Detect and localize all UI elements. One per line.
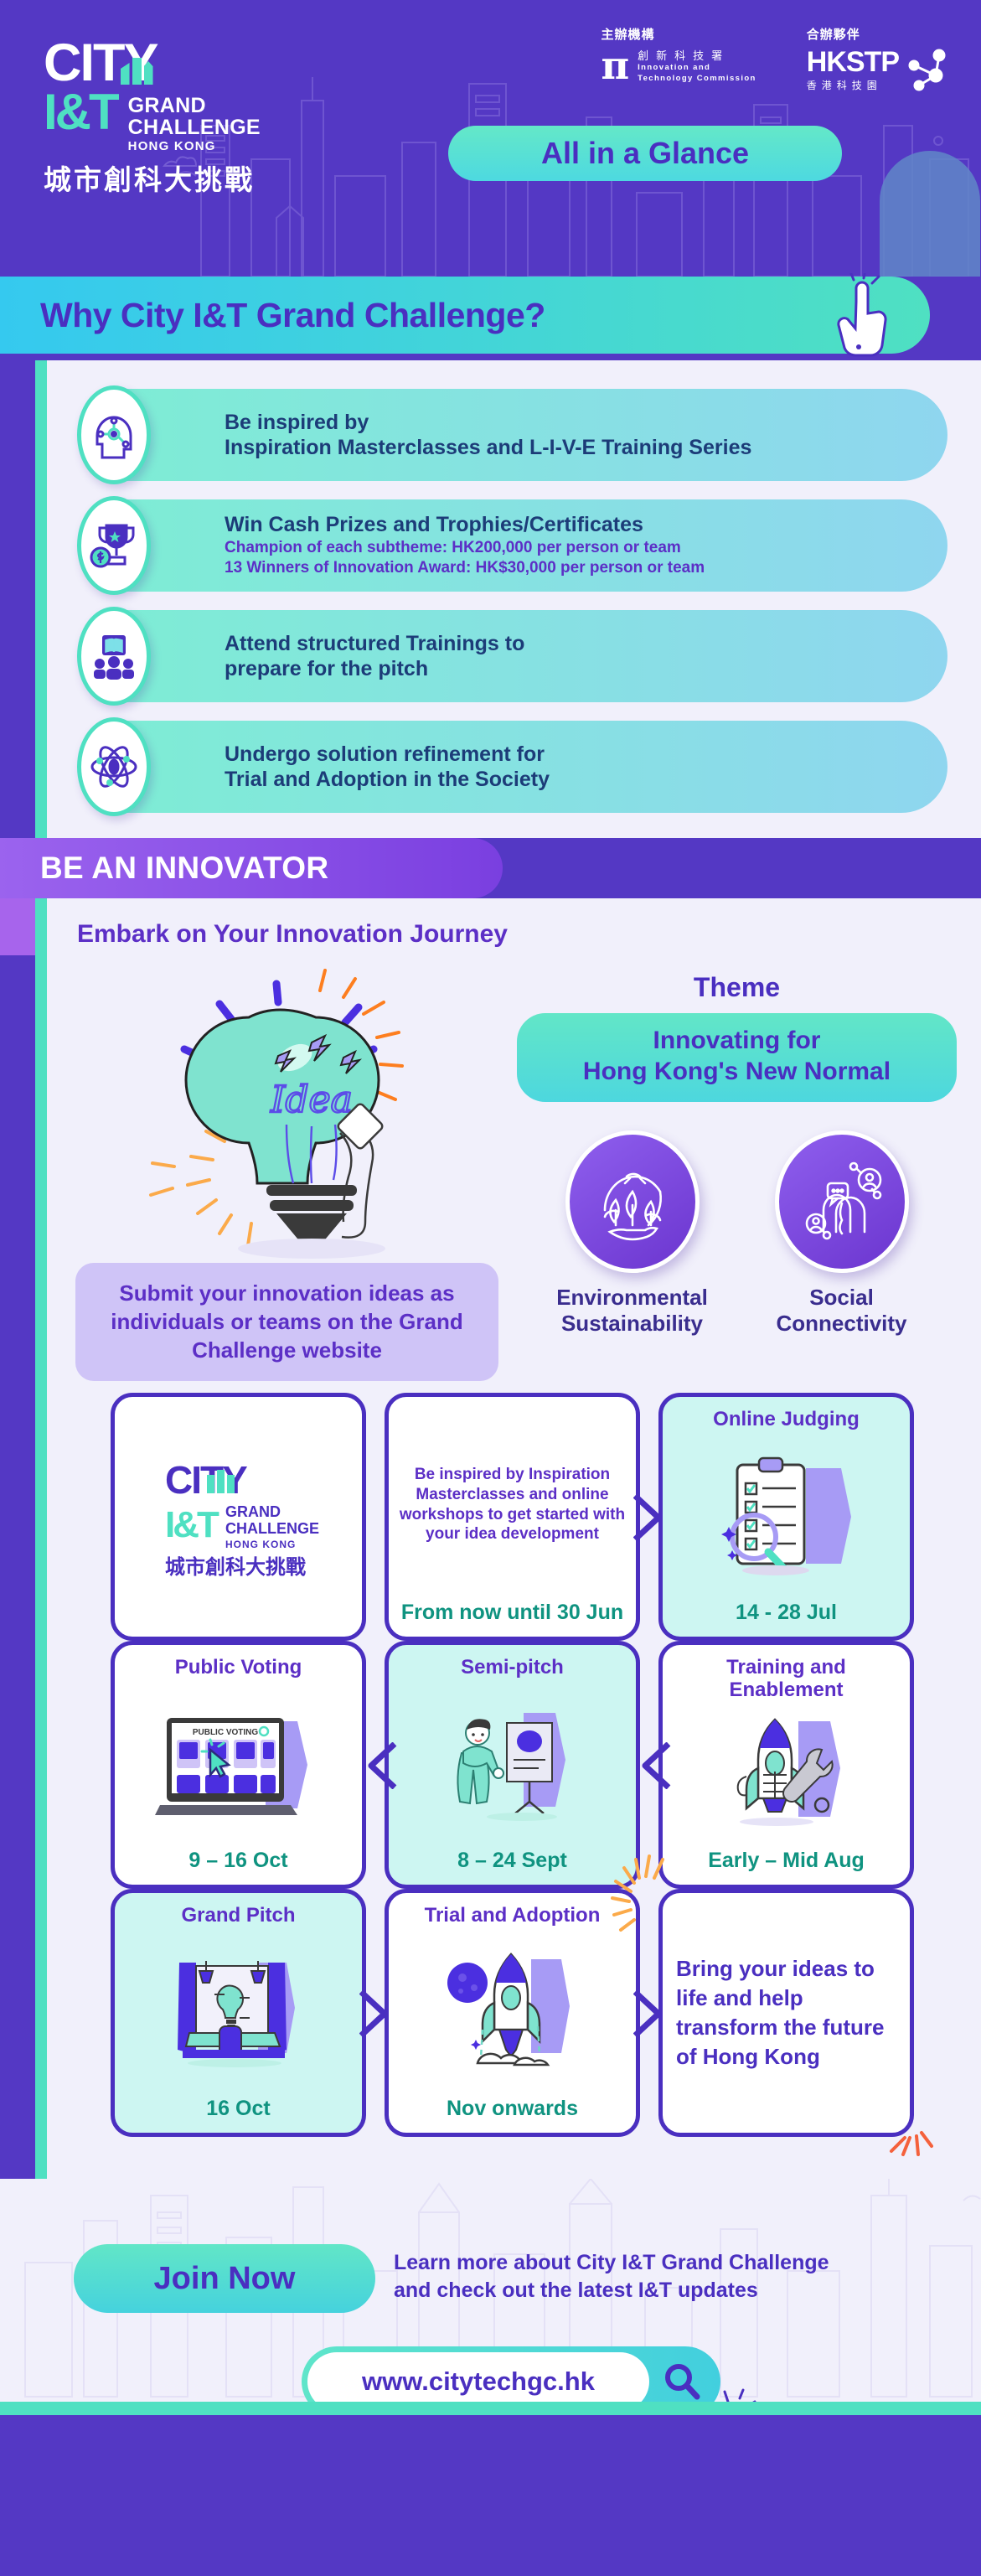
environment-tree-hand-icon	[565, 1130, 700, 1273]
subtheme-social: Social Connectivity	[762, 1130, 922, 1336]
innovator-body: Embark on Your Innovation Journey	[35, 898, 981, 2179]
theme-pill: Innovating for Hong Kong's New Normal	[517, 1013, 957, 1102]
innovation-journey: Idea	[35, 949, 981, 1384]
footer-teal-strip	[0, 2402, 981, 2415]
footer-purple-strip	[0, 2415, 981, 2430]
why-section-title: Why City I&T Grand Challenge?	[40, 296, 545, 335]
timeline-row: CITY I&T GRAND CHALLENGE HONG KONG 城市創科大…	[70, 1393, 981, 1641]
logo-challenge: CHALLENGE	[128, 117, 261, 139]
timeline-card-title: Semi-pitch	[461, 1657, 564, 1679]
timeline-row: Grand Pitch	[70, 1889, 981, 2137]
timeline-card-semi-pitch: Semi-pitch	[385, 1641, 640, 1889]
lightbulb-illustration: Idea	[144, 965, 479, 1259]
timeline-card-title: Grand Pitch	[181, 1905, 295, 1927]
partner-hkstp-role: 合辦夥伴	[807, 25, 947, 43]
clipboard-magnifier-icon	[671, 1431, 901, 1601]
atom-icon	[77, 717, 151, 816]
logo-hong-kong: HONG KONG	[128, 140, 261, 153]
arrow-right-icon	[633, 1990, 672, 2037]
timeline-card-date: 16 Oct	[206, 2097, 270, 2121]
timeline-card-public-voting: Public Voting PUBLIC VOTING	[111, 1641, 366, 1889]
theme-line-1: Innovating for	[525, 1025, 948, 1056]
subtheme-label-line2: Connectivity	[762, 1311, 922, 1337]
timeline-card-title: Trial and Adoption	[425, 1905, 601, 1927]
partner-itc-name-en1: Innovation and	[638, 63, 756, 74]
sparkle-burst-icon	[604, 1854, 679, 1955]
logo-word-it: I&T	[44, 91, 117, 134]
why-benefits-list: Be inspired by Inspiration Masterclasses…	[77, 389, 981, 813]
timeline-card-inspiration: Be inspired by Inspiration Masterclasses…	[385, 1393, 640, 1641]
partner-hkstp-name-en: HKSTP	[807, 48, 899, 76]
partner-itc-name-cn: 創新科技署	[638, 47, 756, 63]
head-circuit-icon	[77, 385, 151, 484]
why-section-body: Be inspired by Inspiration Masterclasses…	[35, 360, 981, 838]
why-item: Be inspired by Inspiration Masterclasses…	[77, 389, 981, 481]
timeline-card-date: Nov onwards	[447, 2097, 578, 2121]
trophy-dollar-icon	[77, 496, 151, 595]
timeline-card-title: Training and Enablement	[671, 1657, 901, 1702]
logo-small-it: I&T	[165, 1504, 219, 1545]
theme-label: Theme	[509, 972, 965, 1003]
learn-more-text: Learn more about City I&T Grand Challeng…	[394, 2249, 930, 2304]
page-footer: Join Now Learn more about City I&T Grand…	[0, 2179, 981, 2430]
logo-small-city: CITY	[165, 1458, 247, 1502]
logo-small-hk: HONG KONG	[225, 1539, 296, 1550]
timeline-card-title: Public Voting	[175, 1657, 302, 1679]
why-headline-1: Be inspired by	[225, 410, 947, 436]
join-now-button[interactable]: Join Now	[74, 2244, 375, 2313]
timeline-card-date: Early – Mid Aug	[708, 1849, 865, 1873]
learn-more-line1: Learn more about City I&T Grand Challeng…	[394, 2249, 930, 2277]
why-pill: Win Cash Prizes and Trophies/Certificate…	[124, 499, 947, 592]
magnifier-icon[interactable]	[649, 2362, 715, 2401]
submit-ideas-text: Submit your innovation ideas as individu…	[111, 1280, 462, 1363]
arrow-left-icon	[638, 1742, 677, 1789]
timeline-card-title: Online Judging	[713, 1409, 860, 1431]
arrow-right-icon	[359, 1990, 398, 2037]
logo-bars-icon	[121, 51, 153, 85]
laptop-voting-icon: PUBLIC VOTING	[123, 1679, 354, 1849]
partner-hkstp-name-cn: 香港科技園	[807, 78, 899, 92]
logo-small-challenge: CHALLENGE	[225, 1520, 319, 1537]
teal-edge-decoration	[35, 360, 47, 838]
infographic-page: CITY I&T GRAND CHALLENGE HONG KONG 城市創科大…	[0, 0, 981, 2576]
logo-grand: GRAND	[128, 96, 261, 117]
final-message-text: Bring your ideas to life and help transf…	[676, 1954, 896, 2072]
partner-itc: 主辦機構 π 創新科技署 Innovation and Technology C…	[601, 25, 756, 92]
social-people-network-icon	[775, 1130, 909, 1273]
timeline-card-date: 14 - 28 Jul	[736, 1601, 837, 1625]
pointing-hand-icon	[817, 273, 901, 364]
arrow-left-icon	[364, 1742, 403, 1789]
subtheme-label-line1: Environmental	[553, 1285, 712, 1311]
timeline-card-body: Be inspired by Inspiration Masterclasses…	[397, 1465, 627, 1544]
arrow-right-icon	[633, 1494, 672, 1541]
why-item: Undergo solution refinement for Trial an…	[77, 721, 981, 813]
sparkle-burst-icon	[885, 2091, 943, 2158]
subtheme-label-line1: Social	[762, 1285, 922, 1311]
why-headline-2: Inspiration Masterclasses and L-I-V-E Tr…	[225, 435, 947, 461]
timeline-card-date: From now until 30 Jun	[401, 1601, 623, 1625]
theme-column: Theme Innovating for Hong Kong's New Nor…	[509, 972, 965, 1337]
submit-ideas-box: Submit your innovation ideas as individu…	[75, 1263, 498, 1381]
logo-chinese: 城市創科大挑戰	[44, 158, 328, 198]
why-sub-2: 13 Winners of Innovation Award: HK$30,00…	[225, 558, 947, 579]
why-pill: Be inspired by Inspiration Masterclasses…	[124, 389, 947, 481]
subtheme-environmental: Environmental Sustainability	[553, 1130, 712, 1336]
subtheme-label-line2: Sustainability	[553, 1311, 712, 1337]
bulb-idea-word: Idea	[270, 1079, 353, 1121]
timeline-card-date: 9 – 16 Oct	[188, 1849, 287, 1873]
subthemes-list: Environmental Sustainability	[509, 1130, 965, 1336]
logo-grand-challenge: GRAND CHALLENGE HONG KONG	[128, 91, 261, 153]
timeline-card-online-judging: Online Judging	[658, 1393, 914, 1641]
why-item: Attend structured Trainings to prepare f…	[77, 610, 981, 702]
learn-more-line2: and check out the latest I&T updates	[394, 2277, 930, 2304]
why-headline-2: prepare for the pitch	[225, 656, 947, 682]
city-it-logo: CITY I&T GRAND CHALLENGE HONG KONG 城市創科大…	[44, 35, 328, 198]
page-header: CITY I&T GRAND CHALLENGE HONG KONG 城市創科大…	[0, 0, 981, 277]
rocket-launch-icon	[397, 1927, 627, 2097]
why-item: Win Cash Prizes and Trophies/Certificate…	[77, 499, 981, 592]
why-headline-1: Attend structured Trainings to	[225, 631, 947, 657]
innovator-banner-title: BE AN INNOVATOR	[40, 851, 328, 886]
timeline-card-final-message: Bring your ideas to life and help transf…	[658, 1889, 914, 2137]
partner-itc-role: 主辦機構	[601, 25, 756, 43]
left-rail-decoration	[0, 277, 35, 2326]
why-section-banner: Why City I&T Grand Challenge?	[0, 277, 930, 354]
timeline-card-logo: CITY I&T GRAND CHALLENGE HONG KONG 城市創科大…	[111, 1393, 366, 1641]
join-now-label: Join Now	[154, 2261, 296, 2297]
timeline-card-grand-pitch: Grand Pitch	[111, 1889, 366, 2137]
why-headline-1: Win Cash Prizes and Trophies/Certificate…	[225, 512, 947, 538]
classroom-training-icon	[77, 607, 151, 706]
why-headline-2: Trial and Adoption in the Society	[225, 767, 947, 793]
innovator-subtitle: Embark on Your Innovation Journey	[35, 898, 981, 949]
timeline-section: CITY I&T GRAND CHALLENGE HONG KONG 城市創科大…	[70, 1384, 981, 2170]
why-headline-1: Undergo solution refinement for	[225, 742, 947, 768]
pi-symbol-icon: π	[601, 50, 629, 81]
why-sub-1: Champion of each subtheme: HK200,000 per…	[225, 538, 947, 559]
why-pill: Undergo solution refinement for Trial an…	[124, 721, 947, 813]
partner-hkstp: 合辦夥伴 HKSTP 香港科技園	[807, 25, 947, 92]
voting-screen-label: PUBLIC VOTING	[192, 1728, 258, 1737]
all-in-a-glance-pill: All in a Glance	[448, 126, 842, 181]
partner-itc-name-en2: Technology Commission	[638, 74, 756, 85]
presenter-board-icon	[397, 1679, 627, 1849]
logo-small-cn: 城市創科大挑戰	[165, 1555, 306, 1579]
timeline-card-training: Training and Enablement	[658, 1641, 914, 1889]
timeline-card-trial-adoption: Trial and Adoption	[385, 1889, 640, 2137]
partner-logos: 主辦機構 π 創新科技署 Innovation and Technology C…	[601, 25, 947, 92]
city-it-logo-small: CITY I&T GRAND CHALLENGE HONG KONG 城市創科大…	[123, 1409, 354, 1625]
timeline-card-date: 8 – 24 Sept	[457, 1849, 567, 1873]
subtheme-label: Social Connectivity	[762, 1285, 922, 1336]
innovator-banner: BE AN INNOVATOR	[0, 838, 503, 898]
why-pill: Attend structured Trainings to prepare f…	[124, 610, 947, 702]
rocket-wrench-icon	[671, 1702, 901, 1849]
logo-small-grand: GRAND	[225, 1503, 281, 1520]
subtheme-label: Environmental Sustainability	[553, 1285, 712, 1336]
timeline-row: Public Voting PUBLIC VOTING	[70, 1641, 981, 1889]
theme-line-2: Hong Kong's New Normal	[525, 1056, 948, 1087]
stage-lightbulb-icon	[123, 1927, 354, 2097]
network-nodes-icon	[902, 47, 947, 92]
glance-label: All in a Glance	[541, 136, 749, 171]
